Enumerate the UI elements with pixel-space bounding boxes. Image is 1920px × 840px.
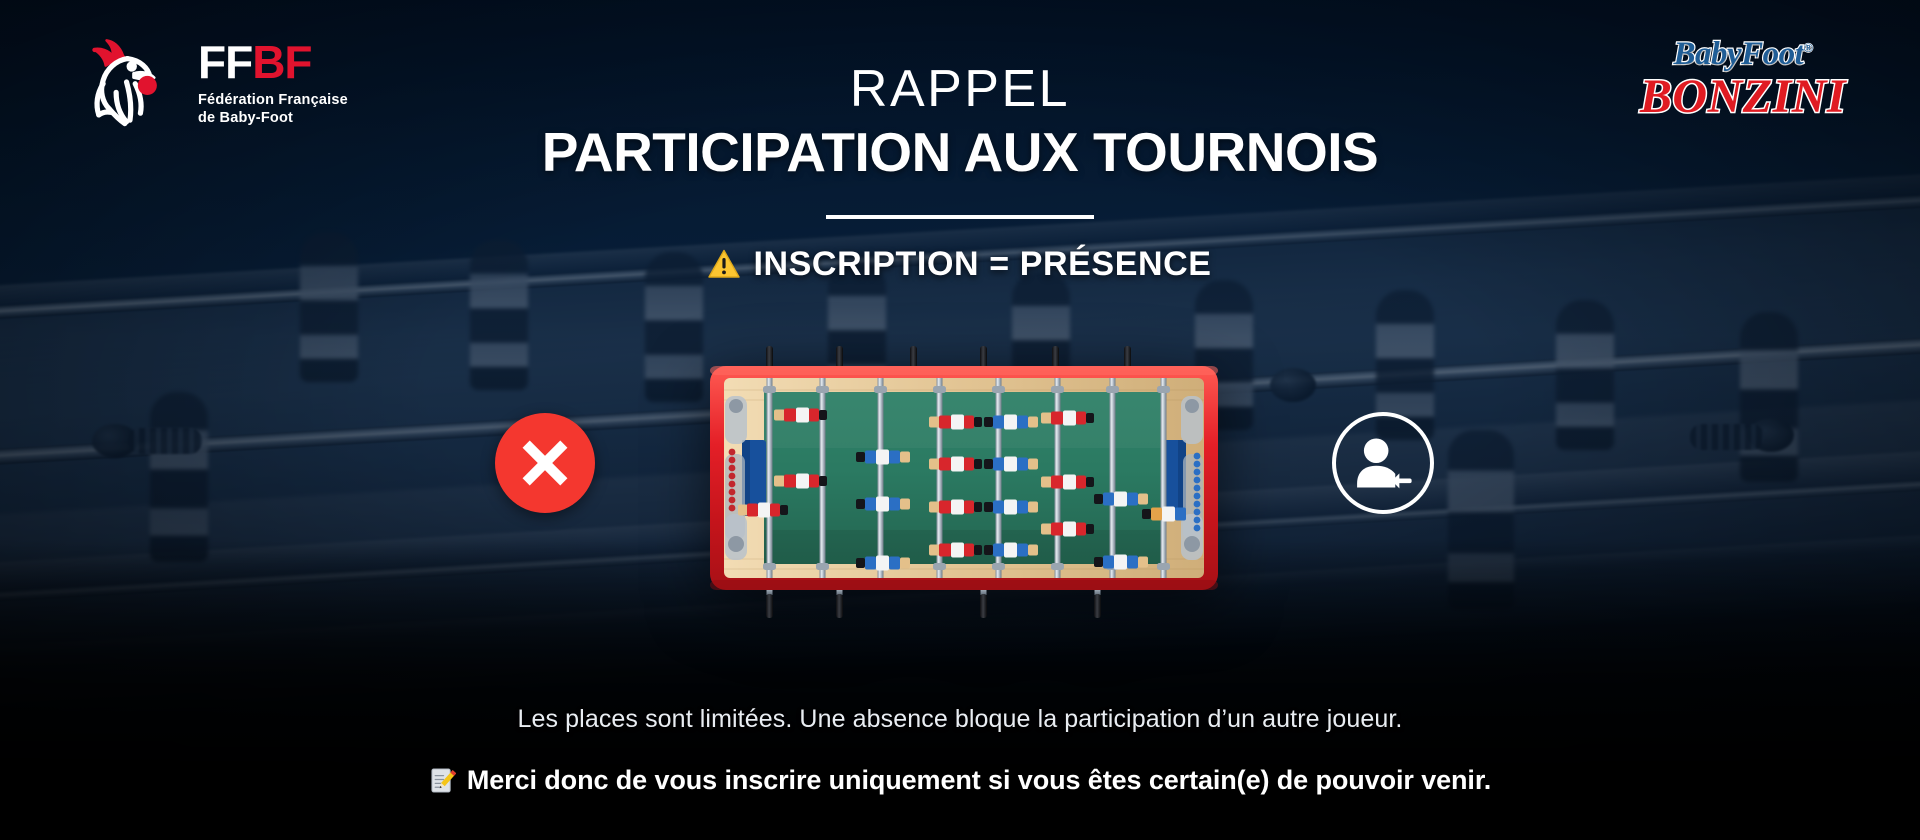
subtitle-row: INSCRIPTION = PRÉSENCE [0,245,1920,284]
poster-canvas: FFBF Fédération Française de Baby-Foot B… [0,0,1920,840]
red-cross-circle-icon[interactable] [495,413,595,513]
memo-icon [429,767,456,794]
person-with-left-arrow-icon [1353,435,1413,491]
footer-note-bold-text: Merci donc de vous inscrire uniquement s… [467,765,1491,796]
foosball-table-graphic [708,344,1220,634]
page-title: PARTICIPATION AUX TOURNOIS [0,123,1920,182]
x-mark-icon [516,434,574,492]
title-divider [826,215,1094,219]
footer-note-bold-row: Merci donc de vous inscrire uniquement s… [0,765,1920,796]
foosball-table-image [708,344,1220,634]
table-handles-bottom [766,587,1101,618]
header-block: RAPPEL PARTICIPATION AUX TOURNOIS INSCRI… [0,62,1920,284]
eyebrow-rappel: RAPPEL [0,62,1920,117]
user-leave-circle-icon[interactable] [1332,412,1434,514]
footer-note-primary: Les places sont limitées. Une absence bl… [0,705,1920,734]
subtitle-text: INSCRIPTION = PRÉSENCE [753,245,1211,284]
warning-triangle-icon [708,249,740,279]
registered-mark-icon: ® [1803,40,1812,55]
